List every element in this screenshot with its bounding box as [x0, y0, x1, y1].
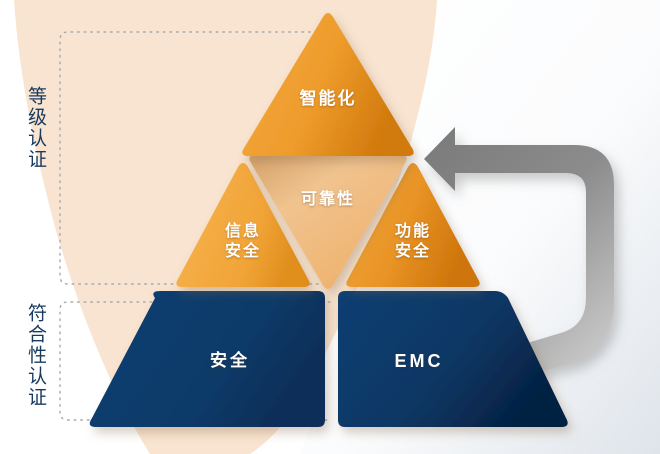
side-label-compliance-certification: 符合性认证	[26, 303, 45, 408]
node-safety-shape[interactable]	[90, 291, 325, 427]
side-label-level-certification: 等级认证	[26, 86, 45, 170]
node-emc-shape[interactable]	[338, 291, 568, 427]
node-intelligent-shape[interactable]	[242, 13, 413, 156]
diagram-canvas: 等级认证 符合性认证 智能化 可靠性 信息 安全 功能 安全 安全 EMC	[0, 0, 660, 454]
pyramid-shapes	[0, 0, 660, 454]
